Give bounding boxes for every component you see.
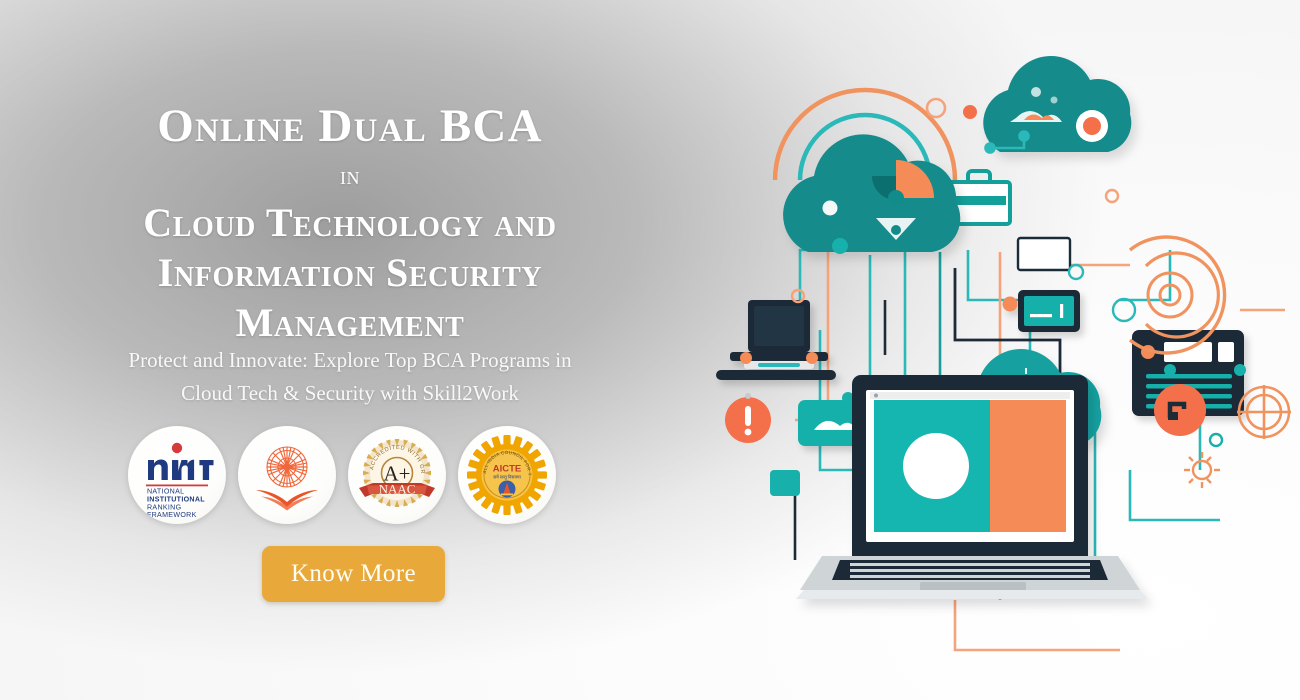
ugc-chakra-book-icon [247, 435, 327, 515]
banner-tagline: Protect and Innovate: Explore Top BCA Pr… [60, 344, 640, 410]
dot-outline [1106, 190, 1118, 202]
badge-nirf[interactable]: NATIONAL INSTITUTIONAL RANKING FRAMEWORK [128, 426, 226, 524]
node-circle [1113, 299, 1135, 321]
tagline-line-2: Cloud Tech & Security with Skill2Work [60, 377, 640, 410]
title-connector: in [0, 162, 700, 192]
teal-tile [770, 470, 800, 496]
badge-ugc[interactable] [238, 426, 336, 524]
promo-banner: Online Dual BCA in Cloud Technology and … [0, 0, 1300, 700]
badge-aicte[interactable]: ALL INDIA COUNCIL FOR TECHNICAL EDU AICT… [458, 426, 556, 524]
cloud-computing-illustration [700, 0, 1300, 700]
svg-text:FRAMEWORK: FRAMEWORK [147, 511, 197, 518]
alert-circle-icon [725, 393, 771, 443]
svg-text:NAAC: NAAC [379, 482, 416, 497]
accreditation-badge-row: NATIONAL INSTITUTIONAL RANKING FRAMEWORK [128, 426, 556, 524]
dot [963, 105, 977, 119]
program-title: Cloud Technology and Information Securit… [0, 198, 700, 348]
program-title-line-1: Cloud Technology and [0, 198, 700, 248]
tagline-line-1: Protect and Innovate: Explore Top BCA Pr… [60, 344, 640, 377]
sun-icon [1184, 452, 1220, 488]
banner-text-column: Online Dual BCA in Cloud Technology and … [0, 0, 700, 700]
crosshair-icon [1237, 385, 1291, 439]
program-title-line-2: Information Security [0, 248, 700, 298]
node-circle [927, 99, 945, 117]
outline-rect [1018, 238, 1070, 270]
node-circle [1069, 265, 1083, 279]
tablet-device [1003, 290, 1081, 332]
small-laptop [716, 300, 836, 380]
page-title: Online Dual BCA [0, 98, 700, 154]
naac-a-plus-seal-icon: ACCREDITED WITH GRADE A+ NAAC [353, 431, 441, 519]
program-title-line-3: Management [0, 298, 700, 348]
svg-text:INSTITUTIONAL: INSTITUTIONAL [147, 496, 205, 504]
svg-text:NATIONAL: NATIONAL [147, 488, 184, 496]
badge-naac[interactable]: ACCREDITED WITH GRADE A+ NAAC [348, 426, 446, 524]
svg-text:AICTE: AICTE [493, 464, 522, 475]
know-more-button[interactable]: Know More [262, 546, 445, 602]
aicte-gear-seal-icon: ALL INDIA COUNCIL FOR TECHNICAL EDU AICT… [465, 433, 549, 517]
cloud-dot [823, 201, 838, 216]
lock-circle-icon [1154, 384, 1206, 436]
cloud-top-right [983, 56, 1131, 152]
nirf-logo-icon: NATIONAL INSTITUTIONAL RANKING FRAMEWORK [134, 432, 220, 518]
